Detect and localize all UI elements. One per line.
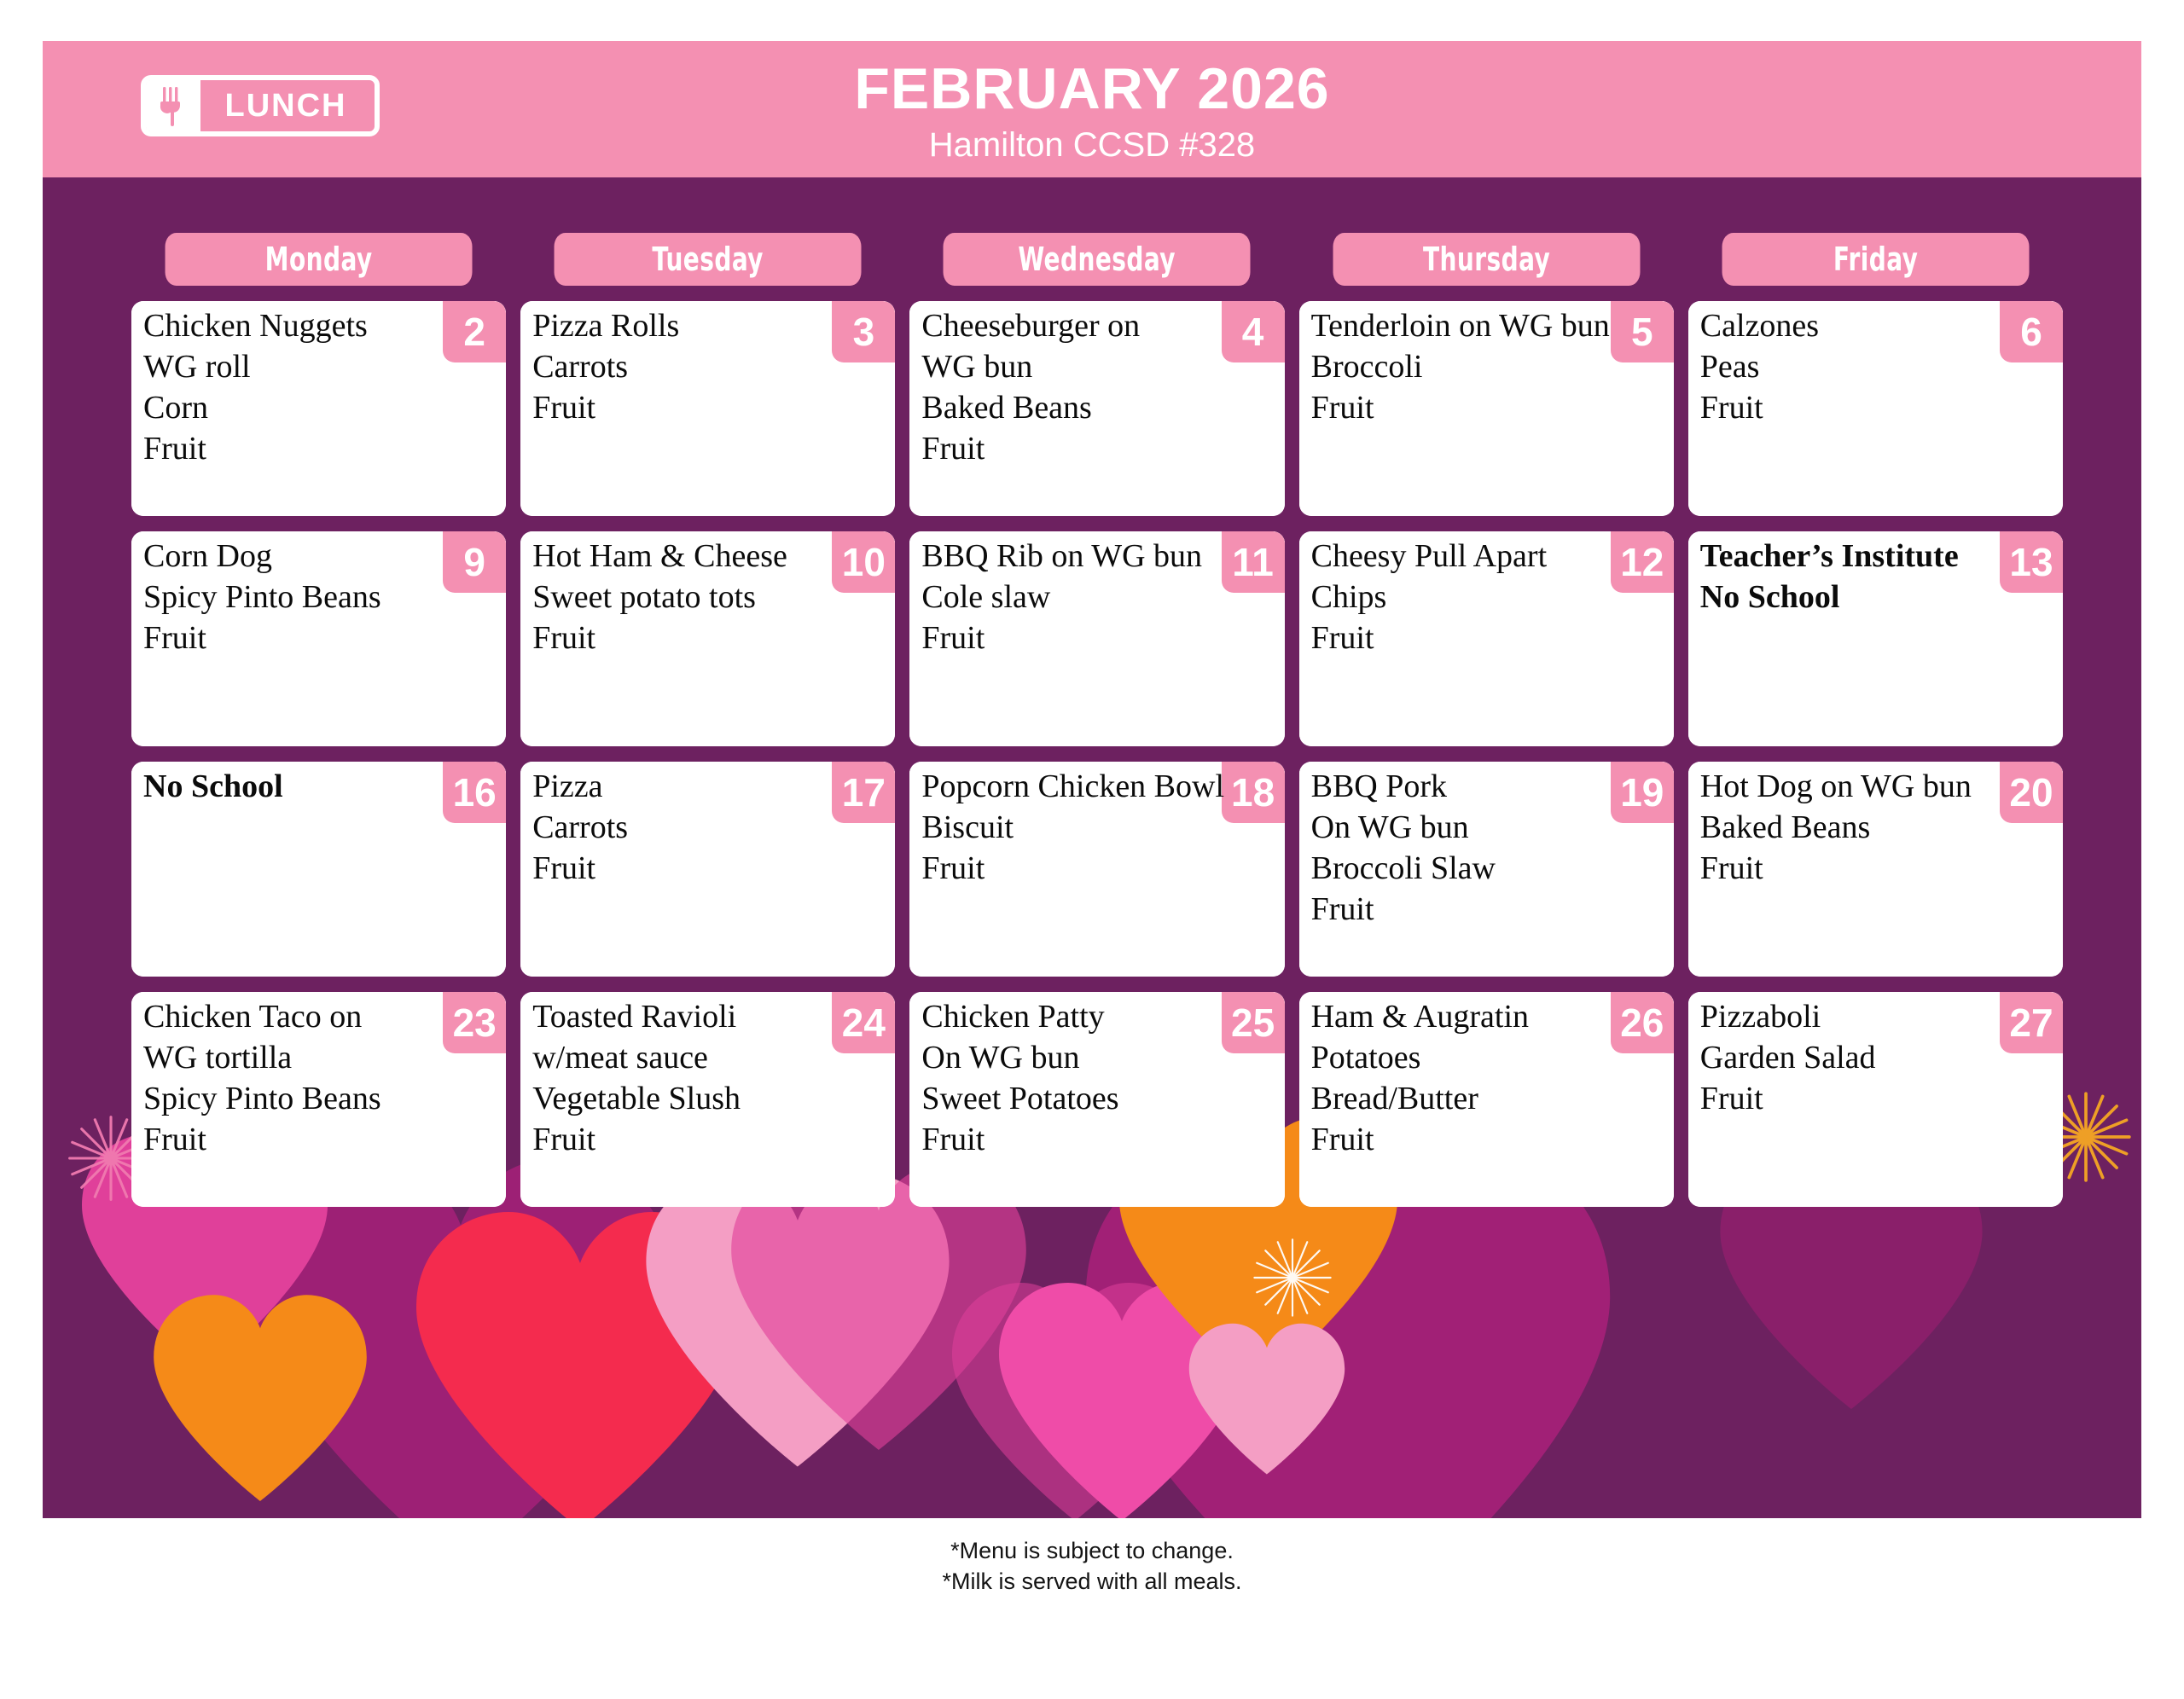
menu-item: Chips	[1311, 577, 1670, 618]
menu-item: Chicken Taco on	[143, 997, 502, 1038]
menu-item-list: CalzonesPeasFruit	[1700, 306, 2059, 429]
menu-item: Popcorn Chicken Bowl	[921, 767, 1281, 808]
menu-item: Broccoli Slaw	[1311, 849, 1670, 890]
menu-item: Fruit	[1700, 1079, 2059, 1120]
menu-item-list: Cheeseburger onWG bunBaked BeansFruit	[921, 306, 1281, 470]
menu-item: Chicken Patty	[921, 997, 1281, 1038]
calendar-day-cell[interactable]: 27PizzaboliGarden SaladFruit	[1688, 992, 2063, 1207]
menu-item: Hot Ham & Cheese	[532, 536, 892, 577]
menu-item: Fruit	[532, 849, 892, 890]
calendar-day-cell[interactable]: 10Hot Ham & CheeseSweet potato totsFruit	[520, 531, 895, 746]
menu-item: Cole slaw	[921, 577, 1281, 618]
menu-item-list: Tenderloin on WG bunBroccoliFruit	[1311, 306, 1670, 429]
menu-item-list: Toasted Ravioliw/meat sauceVegetable Slu…	[532, 997, 892, 1161]
menu-item: Pizza	[532, 767, 892, 808]
calendar-day-cell[interactable]: 11BBQ Rib on WG bunCole slawFruit	[909, 531, 1284, 746]
menu-item: Corn	[143, 388, 502, 429]
day-header-monday: Monday	[166, 233, 473, 286]
menu-item: No School	[1700, 577, 2059, 618]
header-band: LUNCH FEBRUARY 2026 Hamilton CCSD #328	[43, 41, 2141, 177]
menu-item: Fruit	[143, 429, 502, 470]
menu-item: Spicy Pinto Beans	[143, 577, 502, 618]
menu-item: WG roll	[143, 347, 502, 388]
menu-item-list: PizzaCarrotsFruit	[532, 767, 892, 890]
menu-item: Carrots	[532, 347, 892, 388]
calendar-day-cell[interactable]: 19BBQ PorkOn WG bunBroccoli SlawFruit	[1299, 762, 1674, 977]
menu-item-list: Hot Dog on WG bunBaked BeansFruit	[1700, 767, 2059, 890]
calendar-day-cell[interactable]: 16No School	[131, 762, 506, 977]
calendar-day-cell[interactable]: 2Chicken NuggetsWG rollCornFruit	[131, 301, 506, 516]
menu-item: Chicken Nuggets	[143, 306, 502, 347]
calendar-day-cell[interactable]: 20Hot Dog on WG bunBaked BeansFruit	[1688, 762, 2063, 977]
menu-item-list: No School	[143, 767, 502, 808]
menu-item: Pizzaboli	[1700, 997, 2059, 1038]
menu-item: Peas	[1700, 347, 2059, 388]
page-title: FEBRUARY 2026	[43, 60, 2141, 118]
footer-line-2: *Milk is served with all meals.	[0, 1566, 2184, 1597]
menu-item: w/meat sauce	[532, 1038, 892, 1079]
page-subtitle: Hamilton CCSD #328	[43, 128, 2141, 162]
menu-item-list: BBQ PorkOn WG bunBroccoli SlawFruit	[1311, 767, 1670, 931]
menu-item-list: Ham & AugratinPotatoesBread/ButterFruit	[1311, 997, 1670, 1161]
calendar-day-cell[interactable]: 17PizzaCarrotsFruit	[520, 762, 895, 977]
menu-item: Fruit	[1700, 388, 2059, 429]
menu-item: Fruit	[1311, 890, 1670, 931]
menu-item: Garden Salad	[1700, 1038, 2059, 1079]
menu-item: Broccoli	[1311, 347, 1670, 388]
menu-item: Fruit	[143, 618, 502, 659]
menu-item: Fruit	[921, 1120, 1281, 1161]
menu-item-list: Pizza RollsCarrotsFruit	[532, 306, 892, 429]
menu-item: Fruit	[532, 618, 892, 659]
menu-item: Spicy Pinto Beans	[143, 1079, 502, 1120]
calendar-day-cell[interactable]: 18Popcorn Chicken BowlBiscuitFruit	[909, 762, 1284, 977]
calendar-day-cell[interactable]: 13Teacher’s InstituteNo School	[1688, 531, 2063, 746]
menu-item: Carrots	[532, 808, 892, 849]
menu-item: BBQ Pork	[1311, 767, 1670, 808]
menu-item: Fruit	[1700, 849, 2059, 890]
menu-item: Toasted Ravioli	[532, 997, 892, 1038]
menu-item-list: Teacher’s InstituteNo School	[1700, 536, 2059, 618]
menu-item: Fruit	[1311, 618, 1670, 659]
menu-item: Fruit	[1311, 1120, 1670, 1161]
menu-item: Fruit	[921, 429, 1281, 470]
menu-item: Calzones	[1700, 306, 2059, 347]
menu-item: Baked Beans	[1700, 808, 2059, 849]
menu-item: Sweet Potatoes	[921, 1079, 1281, 1120]
menu-item: On WG bun	[1311, 808, 1670, 849]
calendar-day-cell[interactable]: 24Toasted Ravioliw/meat sauceVegetable S…	[520, 992, 895, 1207]
menu-item: Baked Beans	[921, 388, 1281, 429]
menu-item-list: Chicken PattyOn WG bunSweet PotatoesFrui…	[921, 997, 1281, 1161]
calendar-grid: MondayTuesdayWednesdayThursdayFriday2Chi…	[131, 233, 2063, 1207]
menu-item: Tenderloin on WG bun	[1311, 306, 1670, 347]
menu-item: Corn Dog	[143, 536, 502, 577]
calendar-day-cell[interactable]: 25Chicken PattyOn WG bunSweet PotatoesFr…	[909, 992, 1284, 1207]
calendar-day-cell[interactable]: 9Corn DogSpicy Pinto BeansFruit	[131, 531, 506, 746]
menu-item: Sweet potato tots	[532, 577, 892, 618]
menu-page: LUNCH FEBRUARY 2026 Hamilton CCSD #328	[0, 0, 2184, 1699]
menu-item-list: Cheesy Pull ApartChipsFruit	[1311, 536, 1670, 659]
footer-notes: *Menu is subject to change. *Milk is ser…	[0, 1535, 2184, 1598]
menu-item: WG tortilla	[143, 1038, 502, 1079]
calendar-panel: MondayTuesdayWednesdayThursdayFriday2Chi…	[43, 177, 2141, 1518]
menu-item: Biscuit	[921, 808, 1281, 849]
calendar-day-cell[interactable]: 26Ham & AugratinPotatoesBread/ButterFrui…	[1299, 992, 1674, 1207]
menu-item: Fruit	[1311, 388, 1670, 429]
calendar-day-cell[interactable]: 6CalzonesPeasFruit	[1688, 301, 2063, 516]
menu-item: Fruit	[921, 618, 1281, 659]
menu-item: Ham & Augratin	[1311, 997, 1670, 1038]
menu-item: Bread/Butter	[1311, 1079, 1670, 1120]
menu-item: Potatoes	[1311, 1038, 1670, 1079]
menu-item-list: Popcorn Chicken BowlBiscuitFruit	[921, 767, 1281, 890]
menu-item: Cheeseburger on	[921, 306, 1281, 347]
menu-item: No School	[143, 767, 502, 808]
menu-item-list: PizzaboliGarden SaladFruit	[1700, 997, 2059, 1120]
menu-item: Vegetable Slush	[532, 1079, 892, 1120]
menu-item: Pizza Rolls	[532, 306, 892, 347]
sparkle-icon	[1254, 1239, 1330, 1315]
day-header-friday: Friday	[1722, 233, 2029, 286]
menu-item-list: Chicken NuggetsWG rollCornFruit	[143, 306, 502, 470]
menu-item: Fruit	[532, 388, 892, 429]
calendar-day-cell[interactable]: 23Chicken Taco onWG tortillaSpicy Pinto …	[131, 992, 506, 1207]
menu-item: Fruit	[143, 1120, 502, 1161]
day-header-thursday: Thursday	[1333, 233, 1640, 286]
footer-line-1: *Menu is subject to change.	[0, 1535, 2184, 1566]
calendar-day-cell[interactable]: 4Cheeseburger onWG bunBaked BeansFruit	[909, 301, 1284, 516]
menu-item: Fruit	[532, 1120, 892, 1161]
day-header-tuesday: Tuesday	[555, 233, 862, 286]
menu-item: Fruit	[921, 849, 1281, 890]
menu-item-list: Corn DogSpicy Pinto BeansFruit	[143, 536, 502, 659]
menu-item-list: Hot Ham & CheeseSweet potato totsFruit	[532, 536, 892, 659]
day-header-wednesday: Wednesday	[944, 233, 1251, 286]
calendar-day-cell[interactable]: 12Cheesy Pull ApartChipsFruit	[1299, 531, 1674, 746]
calendar-day-cell[interactable]: 5Tenderloin on WG bunBroccoliFruit	[1299, 301, 1674, 516]
menu-item: BBQ Rib on WG bun	[921, 536, 1281, 577]
menu-item: On WG bun	[921, 1038, 1281, 1079]
calendar-day-cell[interactable]: 3Pizza RollsCarrotsFruit	[520, 301, 895, 516]
menu-item-list: BBQ Rib on WG bunCole slawFruit	[921, 536, 1281, 659]
menu-item: Hot Dog on WG bun	[1700, 767, 2059, 808]
menu-item: Cheesy Pull Apart	[1311, 536, 1670, 577]
menu-item-list: Chicken Taco onWG tortillaSpicy Pinto Be…	[143, 997, 502, 1161]
menu-item: WG bun	[921, 347, 1281, 388]
menu-item: Teacher’s Institute	[1700, 536, 2059, 577]
